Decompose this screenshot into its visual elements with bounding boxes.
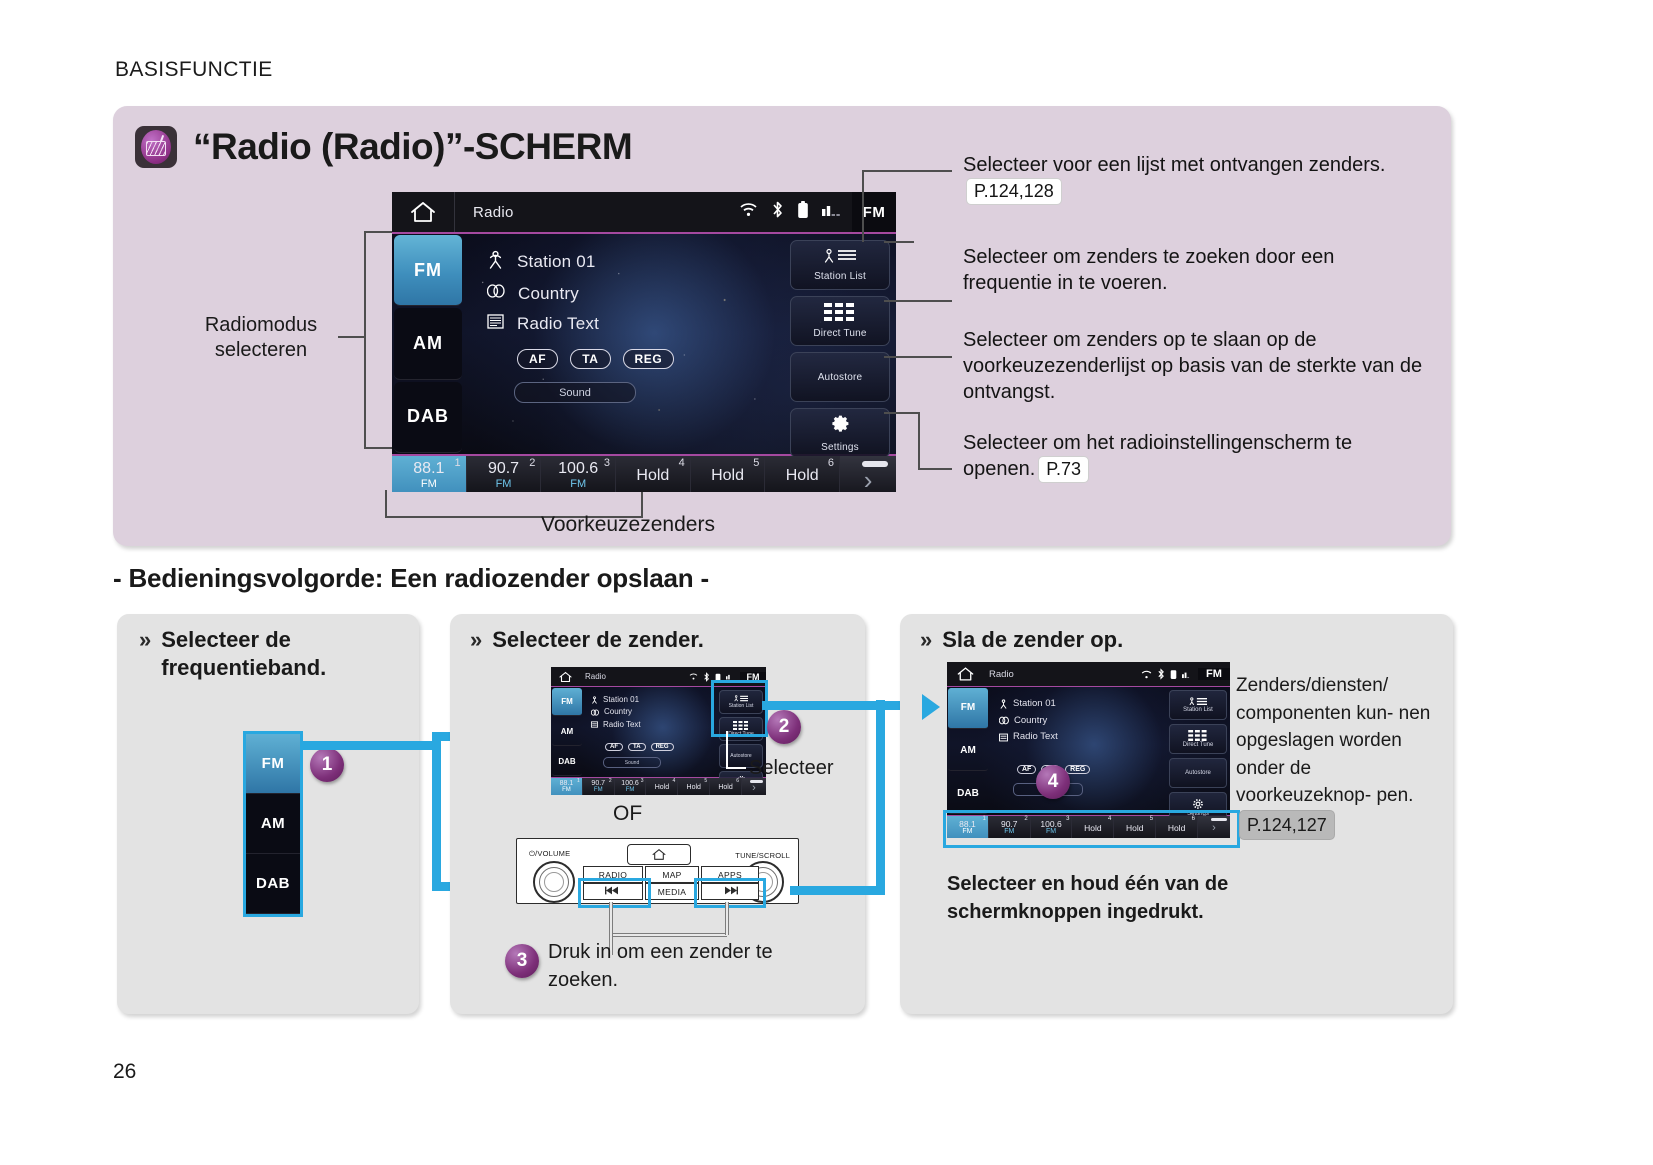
- preset-bar: 1 88.1 FM 2 90.7 FM 3 100.6 FM 4 Hold 5 …: [392, 454, 896, 492]
- autostore-button[interactable]: Autostore: [790, 352, 890, 402]
- mini2-station: Station 01: [603, 694, 639, 706]
- mini3-preset-5-num: 5: [1150, 816, 1153, 822]
- mini3-preset-1-freq: 88.1: [959, 820, 976, 829]
- genre-name: Country: [518, 284, 579, 304]
- callout-4-leader-h1: [884, 412, 920, 414]
- mini3-radiotext: Radio Text: [1013, 729, 1058, 746]
- preset-2-freq: 90.7: [488, 461, 519, 477]
- mini2-tags: AF TA REG: [605, 743, 674, 751]
- mini2-next-page-button[interactable]: ›: [742, 778, 766, 795]
- mini2-tag-af[interactable]: AF: [605, 743, 623, 751]
- mini3-info: Station 01 Country Radio Text: [999, 696, 1058, 746]
- arrow-into-card3-head: [922, 694, 940, 720]
- chevron-double-right-icon-2: »: [470, 626, 482, 654]
- presets-label: Voorkeuzezenders: [541, 513, 715, 537]
- mini3-preset-6-freq: Hold: [1168, 824, 1185, 833]
- mini3-preset-1-band: FM: [962, 828, 972, 836]
- mini3-autostore-button[interactable]: Autostore: [1169, 758, 1227, 788]
- preset-3-band: FM: [570, 477, 586, 491]
- mini3-preset-bar: 188.1FM 290.7FM 3100.6FM 4Hold 5Hold 6Ho…: [947, 815, 1230, 838]
- step-marker-3: 3: [505, 944, 539, 978]
- mini3-station-list-label: Station List: [1183, 707, 1213, 713]
- antenna-icon: [999, 699, 1008, 709]
- preset-1-freq: 88.1: [413, 461, 444, 477]
- mini2-title: Radio: [585, 672, 606, 681]
- arrow-3-seg-v: [876, 700, 885, 895]
- mini2-preset-5-freq: Hold: [687, 784, 701, 791]
- mini2-status-bar: Radio FM: [551, 667, 766, 687]
- mini2-sound-button[interactable]: Sound: [603, 757, 661, 768]
- volume-label: ⏻/VOLUME: [529, 849, 570, 859]
- mini3-preset-2[interactable]: 290.7FM: [989, 816, 1031, 838]
- band-button-dab[interactable]: DAB: [394, 382, 462, 453]
- settings-button[interactable]: Settings: [790, 408, 890, 458]
- callout-autostore: Selecteer om zenders op te slaan op de v…: [963, 327, 1423, 405]
- signal-icon: [1182, 670, 1194, 679]
- preset-2-band: FM: [496, 477, 512, 491]
- band-standalone-am[interactable]: AM: [246, 794, 300, 854]
- keypad-icon: [824, 303, 856, 326]
- radio-hard-key[interactable]: RADIO: [583, 866, 643, 883]
- mini2-preset-2-freq: 90.7: [591, 780, 605, 787]
- tag-af[interactable]: AF: [517, 349, 558, 369]
- side-button-column: Station List Direct Tune Autostore Setti…: [790, 240, 890, 458]
- mini3-preset-1-num: 1: [982, 816, 985, 822]
- preset-next-page-button[interactable]: ›: [840, 456, 896, 492]
- band-standalone-dab[interactable]: DAB: [246, 854, 300, 914]
- callout-settings: Selecteer om het radioinstellingenscherm…: [963, 430, 1423, 483]
- step-2-heading: » Selecteer de zender.: [470, 626, 800, 654]
- station-list-icon: [821, 248, 859, 269]
- mini3-title: Radio: [989, 669, 1014, 680]
- page-indicator: [862, 461, 888, 467]
- mini3-tag-af[interactable]: AF: [1017, 765, 1036, 774]
- now-playing-info: Station 01 Country Radio Text: [487, 250, 599, 344]
- radiomode-label: Radiomodusselecteren: [186, 313, 336, 363]
- highlight-leader-h: [726, 767, 746, 769]
- mini2-preset-5[interactable]: 5Hold: [678, 778, 710, 795]
- preset-3[interactable]: 3 100.6 FM: [541, 456, 616, 492]
- tag-reg[interactable]: REG: [623, 349, 675, 369]
- wifi-icon: [739, 202, 758, 222]
- step-3-body-ref[interactable]: P.124,127: [1239, 810, 1335, 840]
- mini3-preset-3[interactable]: 3100.6FM: [1031, 816, 1073, 838]
- mini2-preset-6-num: 6: [736, 778, 739, 784]
- mini2-preset-6-freq: Hold: [718, 784, 732, 791]
- callout-station-list-ref[interactable]: P.124,128: [966, 178, 1062, 205]
- panel-title-row: “Radio (Radio)”-SCHERM: [135, 126, 632, 168]
- screen-title: Radio: [473, 204, 514, 221]
- mini3-band-dab[interactable]: DAB: [948, 773, 988, 814]
- highlight-leader-v: [726, 731, 728, 769]
- text-icon: [999, 733, 1008, 742]
- station-list-button[interactable]: Station List: [790, 240, 890, 290]
- mini2-preset-3-band: FM: [626, 787, 635, 794]
- antenna-icon: [591, 696, 598, 704]
- mini2-station-list-label: Station List: [729, 703, 754, 709]
- mini2-preset-3-freq: 100.6: [621, 780, 639, 787]
- preset-5[interactable]: 5 Hold: [691, 456, 766, 492]
- or-label: OF: [613, 802, 642, 826]
- signal-icon: [726, 673, 736, 680]
- mini2-tag-ta[interactable]: TA: [628, 743, 646, 751]
- callout-direct-tune: Selecteer om zenders te zoeken door een …: [963, 244, 1423, 296]
- mini2-preset-1-band: FM: [562, 787, 571, 794]
- preset-5-number: 5: [753, 457, 759, 469]
- text-icon: [487, 313, 504, 335]
- callout-1-leader-tip: [884, 241, 914, 243]
- mini3-preset-3-band: FM: [1046, 828, 1056, 836]
- mini3-next-page-button[interactable]: ›: [1198, 816, 1230, 838]
- skip-next-icon: [722, 886, 738, 897]
- gear-icon: [1192, 798, 1204, 810]
- band-indicator: FM: [852, 192, 896, 232]
- chevron-right-icon: ›: [1212, 822, 1216, 834]
- step-marker-4: 4: [1036, 765, 1070, 799]
- mini3-preset-6[interactable]: 6Hold: [1156, 816, 1198, 838]
- mini2-band-indicator: FM: [740, 672, 766, 682]
- mini2-info: Station 01 Country Radio Text: [591, 694, 641, 731]
- skip-next-hard-key[interactable]: [701, 883, 759, 900]
- preset-1[interactable]: 1 88.1 FM: [392, 456, 467, 492]
- battery-icon: [1170, 668, 1177, 680]
- status-icons: [739, 200, 852, 224]
- signal-icon: [822, 202, 844, 222]
- callout-settings-text: Selecteer om het radioinstellingenscherm…: [963, 432, 1352, 480]
- mini2-direct-tune-label: Direct Tune: [728, 731, 754, 737]
- arrow-3-seg-h: [790, 886, 885, 895]
- station-list-label: Station List: [814, 271, 866, 282]
- step-1-heading: » Selecteer de frequentieband.: [139, 626, 389, 681]
- section-heading: - Bedieningsvolgorde: Een radiozender op…: [113, 563, 709, 594]
- band-rail-standalone[interactable]: FM AM DAB: [243, 731, 303, 917]
- callout-1-leader-v: [862, 170, 864, 242]
- home-icon[interactable]: [947, 666, 983, 682]
- mini3-genre: Country: [1014, 713, 1047, 730]
- mini2-genre: Country: [604, 706, 632, 718]
- band-standalone-fm[interactable]: FM: [246, 734, 300, 794]
- preset-6-number: 6: [828, 457, 834, 469]
- arrow-1-seg-h: [300, 741, 440, 750]
- step-marker-2: 2: [767, 710, 801, 744]
- mini3-preset-6-num: 6: [1192, 816, 1195, 822]
- map-hard-key[interactable]: MAP: [645, 866, 699, 883]
- chevron-right-icon: ›: [864, 467, 873, 492]
- sound-button[interactable]: Sound: [514, 382, 636, 403]
- preset-4-freq: Hold: [636, 468, 669, 484]
- mini2-preset-2[interactable]: 290.7FM: [583, 778, 615, 795]
- preset-1-band: FM: [421, 477, 437, 491]
- radio-text-row: Radio Text: [487, 313, 599, 335]
- mini3-status-icons: [1141, 668, 1198, 680]
- step-3-body-text-value: Zenders/diensten/ componenten kun- nen o…: [1236, 675, 1430, 806]
- wifi-icon: [1141, 670, 1152, 679]
- mini3-tag-reg[interactable]: REG: [1065, 765, 1090, 774]
- autostore-label: Autostore: [818, 372, 863, 383]
- radiomode-leader: [338, 336, 366, 338]
- hardware-control-panel: ⏻/VOLUME TUNE/SCROLL RADIO MAP APPS MEDI…: [516, 838, 799, 904]
- home-icon[interactable]: [392, 192, 455, 232]
- step-3-bold-text: Selecteer en houd één van de schermknopp…: [947, 870, 1237, 927]
- mini2-preset-1-freq: 88.1: [560, 780, 574, 787]
- preset-3-number: 3: [604, 457, 610, 469]
- battery-icon: [797, 200, 809, 224]
- page-number: 26: [113, 1060, 136, 1084]
- step-3-body-text: Zenders/diensten/ componenten kun- nen o…: [1236, 672, 1441, 840]
- mini2-preset-2-num: 2: [609, 778, 612, 784]
- chevron-double-right-icon: »: [139, 626, 151, 681]
- mini2-radiotext: Radio Text: [603, 719, 641, 731]
- preset-4[interactable]: 4 Hold: [616, 456, 691, 492]
- station-row: Station 01: [487, 250, 599, 274]
- chevron-double-right-icon-3: »: [920, 626, 932, 654]
- antenna-icon: [487, 250, 504, 274]
- bluetooth-icon: [1157, 668, 1165, 680]
- mini3-band-fm[interactable]: FM: [948, 688, 988, 729]
- mini3-direct-tune-label: Direct Tune: [1183, 742, 1214, 748]
- callout-station-list: Selecteer voor een lijst met ontvangen z…: [963, 152, 1393, 205]
- station-name: Station 01: [517, 252, 596, 272]
- status-bar: Radio FM: [392, 192, 896, 234]
- preset-3-freq: 100.6: [558, 461, 598, 477]
- tune-scroll-label: TUNE/SCROLL: [735, 851, 790, 860]
- mini3-preset-2-freq: 90.7: [1001, 820, 1018, 829]
- mini3-preset-2-band: FM: [1004, 828, 1014, 836]
- band-button-fm[interactable]: FM: [394, 235, 462, 306]
- genre-row: Country: [487, 283, 599, 304]
- wifi-icon: [689, 673, 698, 680]
- skip-previous-icon: [605, 886, 621, 897]
- arrow-1-seg-v: [432, 741, 441, 891]
- select-label: Selecteer: [749, 757, 834, 780]
- apps-hard-key[interactable]: APPS: [701, 866, 759, 883]
- callout-1-leader-h: [862, 170, 952, 172]
- chevron-right-icon: ›: [752, 782, 756, 794]
- step-2-heading-text: Selecteer de zender.: [492, 626, 704, 654]
- mini2-preset-5-num: 5: [704, 778, 707, 784]
- mini2-tag-reg[interactable]: REG: [651, 743, 674, 751]
- step-marker-1: 1: [310, 748, 344, 782]
- mini3-preset-4[interactable]: 4Hold: [1072, 816, 1114, 838]
- settings-label: Settings: [821, 442, 859, 453]
- mini-screen-step2[interactable]: Radio FM FM AM DAB Station 01 Country Ra…: [551, 667, 766, 795]
- mini2-station-list-button[interactable]: Station List: [719, 690, 763, 714]
- mini3-station-list-button[interactable]: Station List: [1169, 690, 1227, 720]
- mini3-autostore-label: Autostore: [1185, 770, 1211, 776]
- hw-leader-h: [609, 933, 727, 937]
- callout-autostore-text: Selecteer om zenders op te slaan op de v…: [963, 329, 1422, 403]
- running-head: BASISFUNCTIE: [115, 58, 273, 82]
- page-title: “Radio (Radio)”-SCHERM: [193, 126, 632, 168]
- preset-4-number: 4: [679, 457, 685, 469]
- rds-tags: AF TA REG: [517, 349, 674, 369]
- mini2-band-am[interactable]: AM: [552, 718, 582, 746]
- band-rail: FM AM DAB: [392, 234, 464, 454]
- mini2-preset-1[interactable]: 188.1FM: [551, 778, 583, 795]
- mini3-station: Station 01: [1013, 696, 1056, 713]
- mini3-preset-5-freq: Hold: [1126, 824, 1143, 833]
- radio-text: Radio Text: [517, 314, 599, 334]
- mini2-preset-4-num: 4: [673, 778, 676, 784]
- preset-1-number: 1: [455, 457, 461, 469]
- mini3-preset-3-freq: 100.6: [1040, 820, 1061, 829]
- mini2-preset-bar: 188.1FM 290.7FM 3100.6FM 4Hold 5Hold 6Ho…: [551, 777, 766, 795]
- step-3-heading: » Sla de zender op.: [920, 626, 1240, 654]
- mini3-preset-1[interactable]: 188.1FM: [947, 816, 989, 838]
- volume-knob[interactable]: [533, 861, 575, 903]
- step-1-heading-text: Selecteer de frequentieband.: [161, 626, 389, 681]
- callout-direct-tune-text: Selecteer om zenders te zoeken door een …: [963, 246, 1334, 294]
- mini3-preset-5[interactable]: 5Hold: [1114, 816, 1156, 838]
- text-icon: [591, 721, 598, 728]
- mini3-body: FM AM DAB Station 01 Country Radio Text …: [947, 687, 1230, 815]
- callout-settings-ref[interactable]: P.73: [1038, 456, 1089, 483]
- media-hard-key[interactable]: MEDIA: [645, 883, 699, 900]
- mini3-status-bar: Radio FM: [947, 662, 1230, 687]
- callout-4-leader-h2: [918, 468, 952, 470]
- preset-6-freq: Hold: [786, 468, 819, 484]
- callout-4-leader-v: [918, 412, 920, 470]
- mini3-direct-tune-button[interactable]: Direct Tune: [1169, 724, 1227, 754]
- mini3-band-indicator: FM: [1198, 668, 1230, 680]
- arrow-2-seg: [762, 701, 922, 710]
- skip-previous-hard-key[interactable]: [583, 883, 643, 900]
- callout-3-leader: [884, 356, 952, 358]
- direct-tune-label: Direct Tune: [813, 328, 866, 339]
- callout-station-list-text: Selecteer voor een lijst met ontvangen z…: [963, 154, 1385, 176]
- mini2-body: FM AM DAB Station 01 Country Radio Text …: [551, 687, 766, 777]
- preset-2-number: 2: [529, 457, 535, 469]
- mini2-band-fm[interactable]: FM: [552, 688, 582, 716]
- bluetooth-icon: [703, 672, 710, 682]
- mini3-band-am[interactable]: AM: [948, 731, 988, 772]
- mini2-preset-3[interactable]: 3100.6FM: [615, 778, 647, 795]
- mini2-status-icons: [689, 672, 740, 682]
- mini2-preset-3-num: 3: [641, 778, 644, 784]
- preset-6[interactable]: 6 Hold: [765, 456, 840, 492]
- mini2-band-rail: FM AM DAB: [551, 687, 583, 777]
- mini3-preset-4-num: 4: [1108, 816, 1111, 822]
- mini2-preset-1-num: 1: [577, 778, 580, 784]
- band-button-am[interactable]: AM: [394, 308, 462, 379]
- direct-tune-button[interactable]: Direct Tune: [790, 296, 890, 346]
- tag-ta[interactable]: TA: [570, 349, 610, 369]
- hw-leader-right: [725, 902, 729, 935]
- head-unit-screen[interactable]: Radio FM FM AM DAB: [392, 192, 896, 492]
- genre-icon: [591, 709, 599, 716]
- radio-icon: [135, 126, 177, 168]
- mini2-preset-4-freq: Hold: [655, 784, 669, 791]
- preset-2[interactable]: 2 90.7 FM: [467, 456, 542, 492]
- bluetooth-icon: [771, 200, 784, 224]
- mini2-preset-2-band: FM: [594, 787, 603, 794]
- mini3-side-buttons: Station List Direct Tune Autostore Setti…: [1169, 690, 1227, 822]
- genre-icon: [999, 716, 1009, 725]
- screen-body: FM AM DAB Station 01 Country Ra: [392, 234, 896, 454]
- battery-icon: [715, 672, 721, 682]
- mini2-preset-4[interactable]: 4Hold: [646, 778, 678, 795]
- home-icon[interactable]: [551, 671, 579, 683]
- mini3-preset-4-freq: Hold: [1084, 824, 1101, 833]
- gear-icon: [829, 413, 851, 440]
- preset-5-freq: Hold: [711, 468, 744, 484]
- press-label: Druk in om een zender te zoeken.: [548, 938, 828, 994]
- mini2-band-dab[interactable]: DAB: [552, 748, 582, 776]
- genre-icon: [487, 283, 505, 304]
- callout-2-leader: [884, 300, 952, 302]
- step-3-heading-text: Sla de zender op.: [942, 626, 1123, 654]
- home-hard-button[interactable]: [627, 844, 691, 865]
- mini-screen-step3[interactable]: Radio FM FM AM DAB Station 01 Country Ra…: [947, 662, 1230, 838]
- mini3-preset-3-num: 3: [1066, 816, 1069, 822]
- mini3-band-rail: FM AM DAB: [947, 687, 989, 815]
- mini2-preset-6[interactable]: 6Hold: [710, 778, 742, 795]
- mini3-preset-2-num: 2: [1024, 816, 1027, 822]
